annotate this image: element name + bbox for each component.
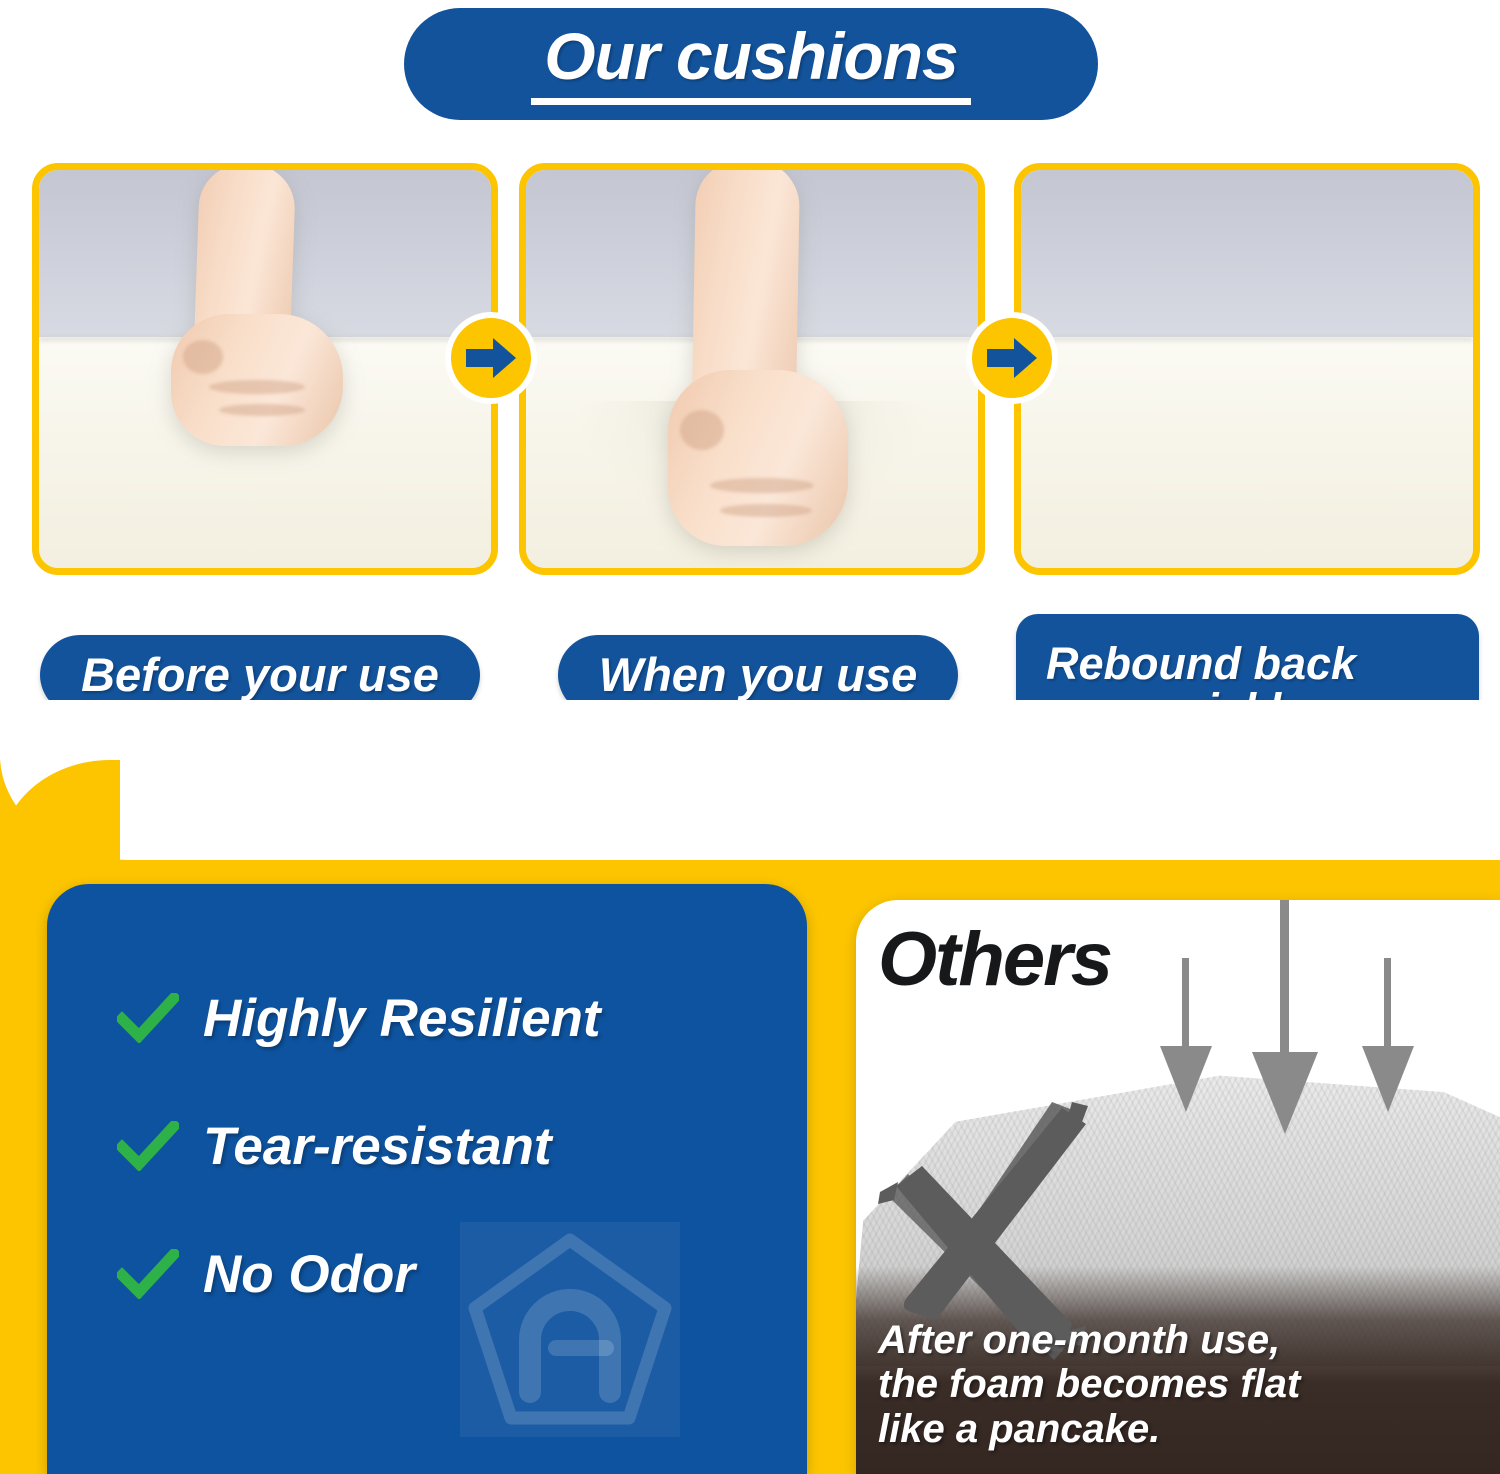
- feature-label: Highly Resilient: [203, 988, 601, 1049]
- white-section-curve: [0, 700, 1500, 860]
- infographic-page: Our cushions: [0, 0, 1500, 1474]
- list-item: Tear-resistant: [117, 1082, 757, 1210]
- feature-label: No Odor: [203, 1244, 415, 1305]
- others-card: Others After one-month use, the foam bec…: [856, 900, 1500, 1474]
- check-icon: [117, 1249, 181, 1299]
- photo-during: [526, 170, 978, 568]
- photo-backdrop: [1021, 170, 1473, 345]
- fist-illustration: [157, 170, 367, 464]
- others-title: Others: [878, 916, 1111, 1003]
- page-title: Our cushions: [544, 23, 957, 89]
- foam-slab: [1021, 337, 1473, 568]
- list-item: Highly Resilient: [117, 954, 757, 1082]
- caption-text: Before your use: [81, 651, 439, 699]
- list-item: No Odor: [117, 1210, 757, 1338]
- feature-list: Highly Resilient Tear-resistant No Odor: [117, 954, 757, 1338]
- foam-edge: [1021, 337, 1473, 341]
- step-photo-during: [519, 163, 985, 575]
- photo-before: [39, 170, 491, 568]
- step-photo-after: [1014, 163, 1480, 575]
- photo-after: [1021, 170, 1473, 568]
- check-icon: [117, 1121, 181, 1171]
- down-arrow-icon: [1146, 900, 1446, 1146]
- arrow-right-icon: [445, 312, 537, 404]
- check-icon: [117, 993, 181, 1043]
- others-caption: After one-month use, the foam becomes fl…: [878, 1318, 1300, 1452]
- page-title-pill: Our cushions: [404, 8, 1098, 120]
- title-underline: [531, 98, 971, 105]
- caption-text: When you use: [599, 651, 918, 699]
- feature-card: Highly Resilient Tear-resistant No Odor: [47, 884, 807, 1474]
- step-photo-before: [32, 163, 498, 575]
- fist-illustration: [650, 170, 870, 568]
- feature-label: Tear-resistant: [203, 1116, 552, 1177]
- arrow-right-icon: [966, 312, 1058, 404]
